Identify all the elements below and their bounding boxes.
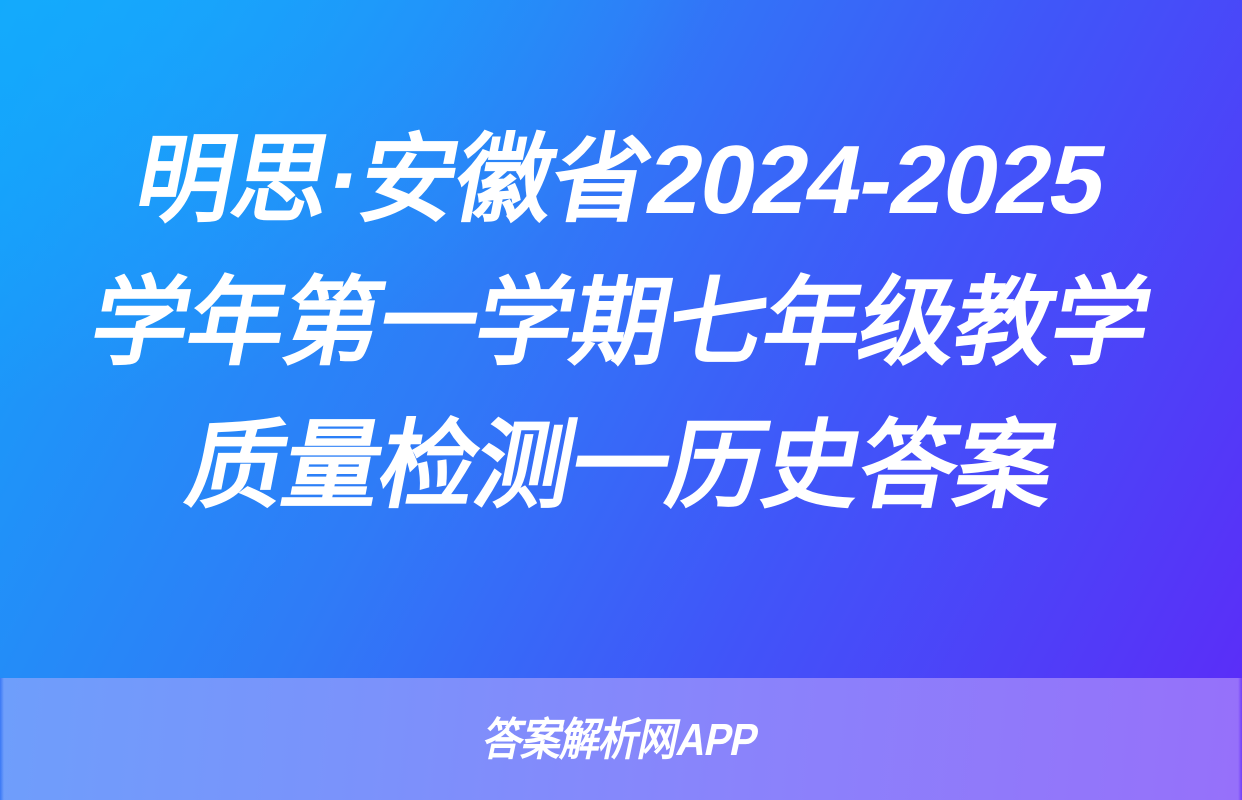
answer-cover-card: 明思·安徽省2024-2025 学年第一学期七年级教学 质量检测一历史答案 答案…: [0, 0, 1242, 800]
watermark-label: 答案解析网APP: [480, 717, 762, 762]
page-title-line-2: 学年第一学期七年级教学: [79, 251, 1163, 394]
page-title-line-1: 明思·安徽省2024-2025: [124, 108, 1118, 251]
hero-gradient-panel: 明思·安徽省2024-2025 学年第一学期七年级教学 质量检测一历史答案: [0, 0, 1242, 678]
watermark-band: 答案解析网APP: [0, 678, 1242, 800]
page-title-line-3: 质量检测一历史答案: [175, 394, 1067, 537]
page-title: 明思·安徽省2024-2025 学年第一学期七年级教学 质量检测一历史答案: [0, 0, 1242, 678]
